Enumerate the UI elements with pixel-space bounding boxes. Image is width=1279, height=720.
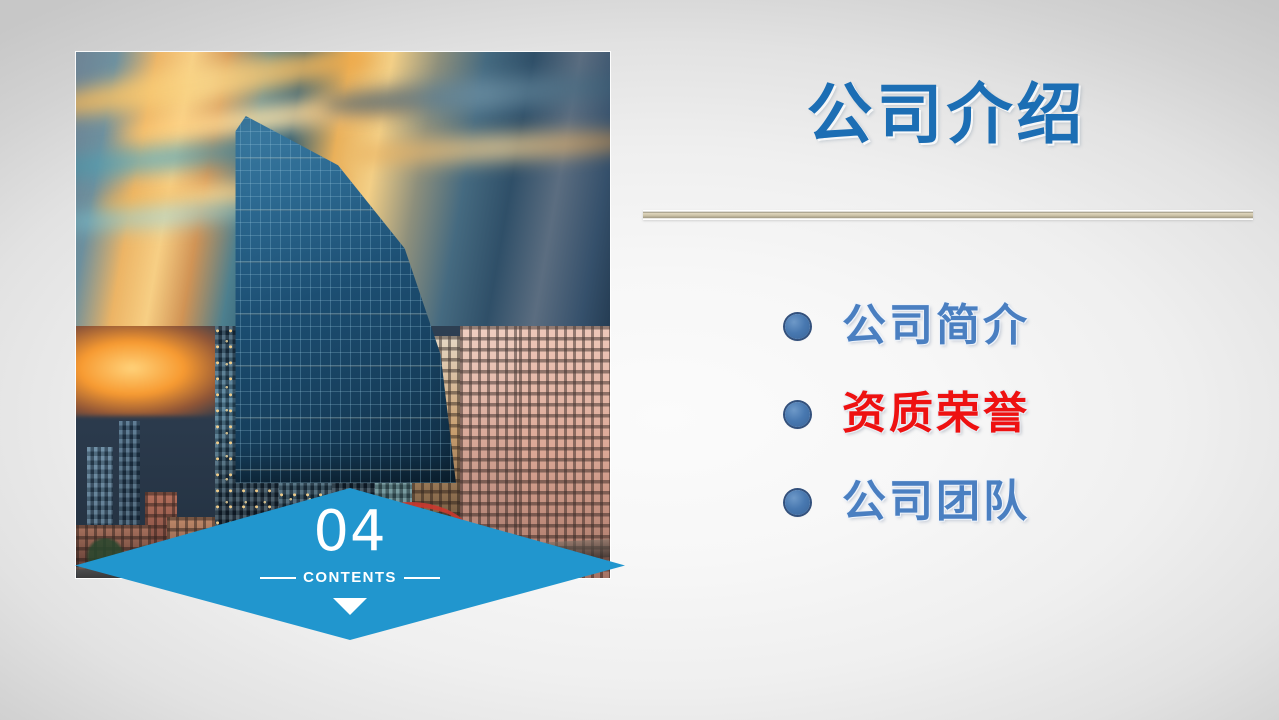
presentation-slide: 04 CONTENTS 公司介绍 公司简介 资质荣誉 公司团队 — [0, 0, 1279, 720]
agenda-item-label: 公司简介 — [842, 304, 1030, 348]
cloud-streak — [321, 68, 610, 121]
agenda-list: 公司简介 资质荣誉 公司团队 — [785, 282, 1265, 546]
bullet-dot-icon — [785, 490, 810, 515]
bullet-dot-icon — [785, 314, 810, 339]
title-divider — [643, 210, 1253, 220]
agenda-item-qualifications-honors[interactable]: 资质荣誉 — [785, 370, 1265, 458]
cloud-streak — [353, 127, 610, 170]
agenda-item-company-team[interactable]: 公司团队 — [785, 458, 1265, 546]
agenda-item-label: 资质荣誉 — [842, 392, 1030, 436]
agenda-item-company-profile[interactable]: 公司简介 — [785, 282, 1265, 370]
agenda-item-label: 公司团队 — [842, 480, 1030, 524]
page-title: 公司介绍 — [640, 80, 1253, 149]
bullet-dot-icon — [785, 402, 810, 427]
right-content-panel: 公司介绍 公司简介 资质荣誉 公司团队 — [640, 0, 1279, 720]
